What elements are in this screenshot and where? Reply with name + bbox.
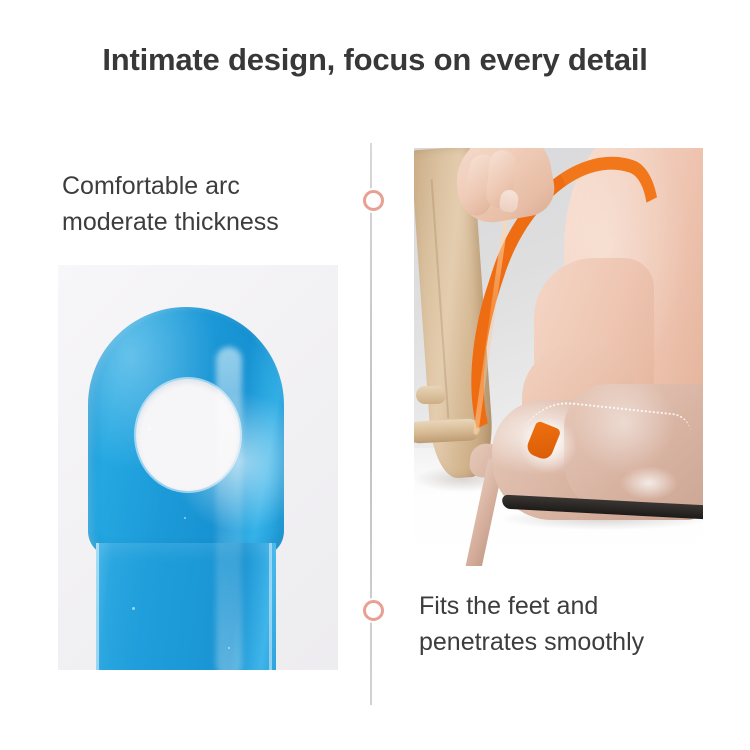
wooden-chair-rung: [414, 418, 481, 444]
feature-caption-right-line2: penetrates smoothly: [419, 624, 719, 660]
feature-caption-right-line1: Fits the feet and: [419, 588, 719, 624]
page-title: Intimate design, focus on every detail: [0, 42, 750, 78]
product-photo-shoe-horn-in-use: [414, 148, 703, 566]
surface-speck: [132, 607, 135, 610]
shoe-horn-right-edge: [269, 543, 272, 670]
feature-caption-left-line1: Comfortable arc: [62, 168, 352, 204]
shoe-gloss-highlight-secondary: [620, 466, 678, 500]
divider-marker-bottom-icon: [363, 600, 384, 621]
shoe-horn-gloss-highlight: [216, 347, 242, 670]
feature-caption-right: Fits the feet and penetrates smoothly: [419, 588, 719, 660]
shoe-horn-left-edge: [96, 543, 99, 670]
feature-caption-left: Comfortable arc moderate thickness: [62, 168, 352, 240]
wooden-chair-rung-upper: [416, 386, 446, 404]
divider-marker-top-icon: [363, 190, 384, 211]
surface-speck: [228, 647, 230, 649]
product-photo-blue-shoe-horn: [58, 265, 338, 670]
shoe-horn-shaft: [96, 543, 276, 670]
feature-caption-left-line2: moderate thickness: [62, 204, 352, 240]
blue-shoe-horn-illustration: [88, 307, 284, 670]
surface-speck: [148, 427, 151, 430]
surface-speck: [184, 517, 186, 519]
product-feature-page: Intimate design, focus on every detail C…: [0, 0, 750, 750]
